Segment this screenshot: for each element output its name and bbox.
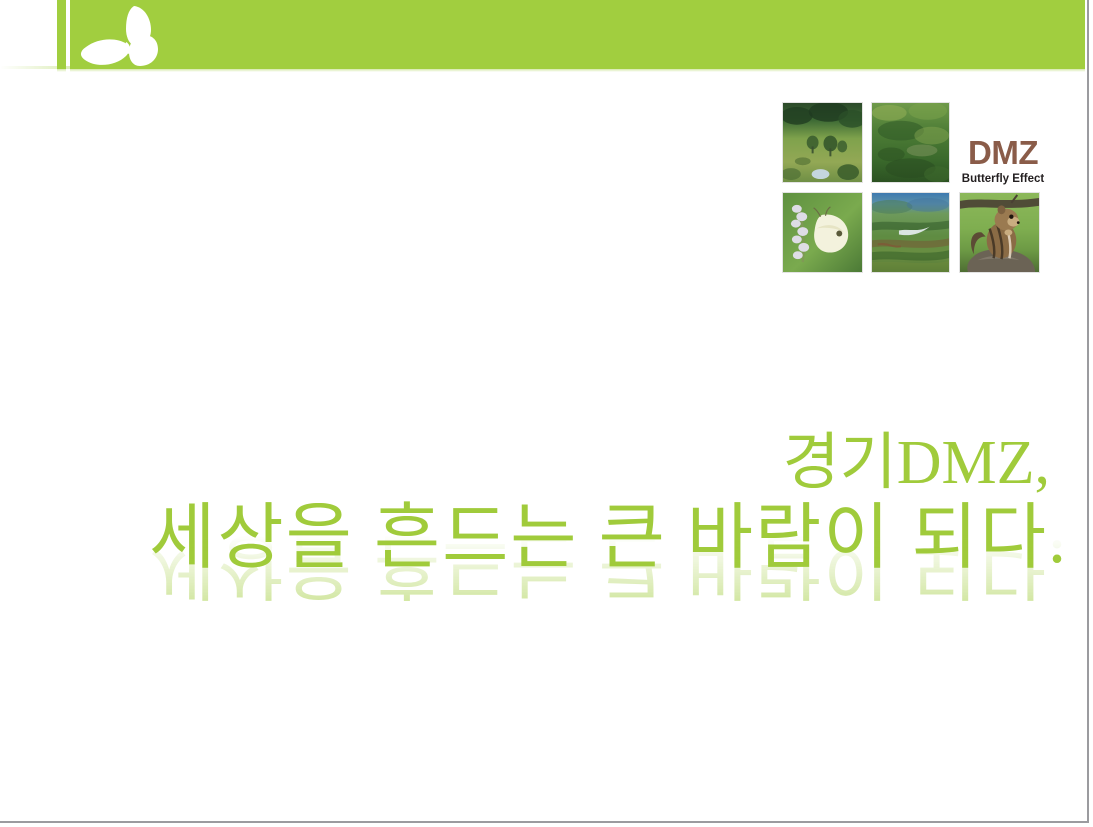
photo-valley-stream — [871, 192, 950, 273]
slide-frame-right-border — [1087, 0, 1089, 823]
dmz-brand-block: DMZ Butterfly Effect — [780, 100, 1042, 280]
butterfly-icon — [78, 2, 180, 72]
presentation-slide: DMZ Butterfly Effect 경기DMZ, 세상을 흔드는 큰 바람… — [0, 0, 1093, 827]
photo-meadow-trees — [782, 102, 863, 183]
brand-photo-grid — [780, 100, 1042, 280]
photo-forest-hills — [871, 102, 950, 183]
slide-frame-bottom-border — [0, 821, 1089, 823]
dmz-wordmark-tagline: Butterfly Effect — [958, 174, 1048, 186]
slide-title-line-2: 세상을 흔드는 큰 바람이 되다. — [0, 502, 1068, 574]
dmz-wordmark: DMZ Butterfly Effect — [958, 136, 1048, 186]
slide-title-line-1: 경기DMZ, — [0, 432, 1068, 494]
slide-title: 경기DMZ, 세상을 흔드는 큰 바람이 되다. — [0, 432, 1068, 574]
header-accent-bar — [57, 0, 66, 69]
photo-chipmunk — [959, 192, 1040, 273]
photo-butterfly — [782, 192, 863, 273]
dmz-wordmark-title: DMZ — [958, 136, 1048, 169]
header-green-band — [70, 0, 1085, 69]
